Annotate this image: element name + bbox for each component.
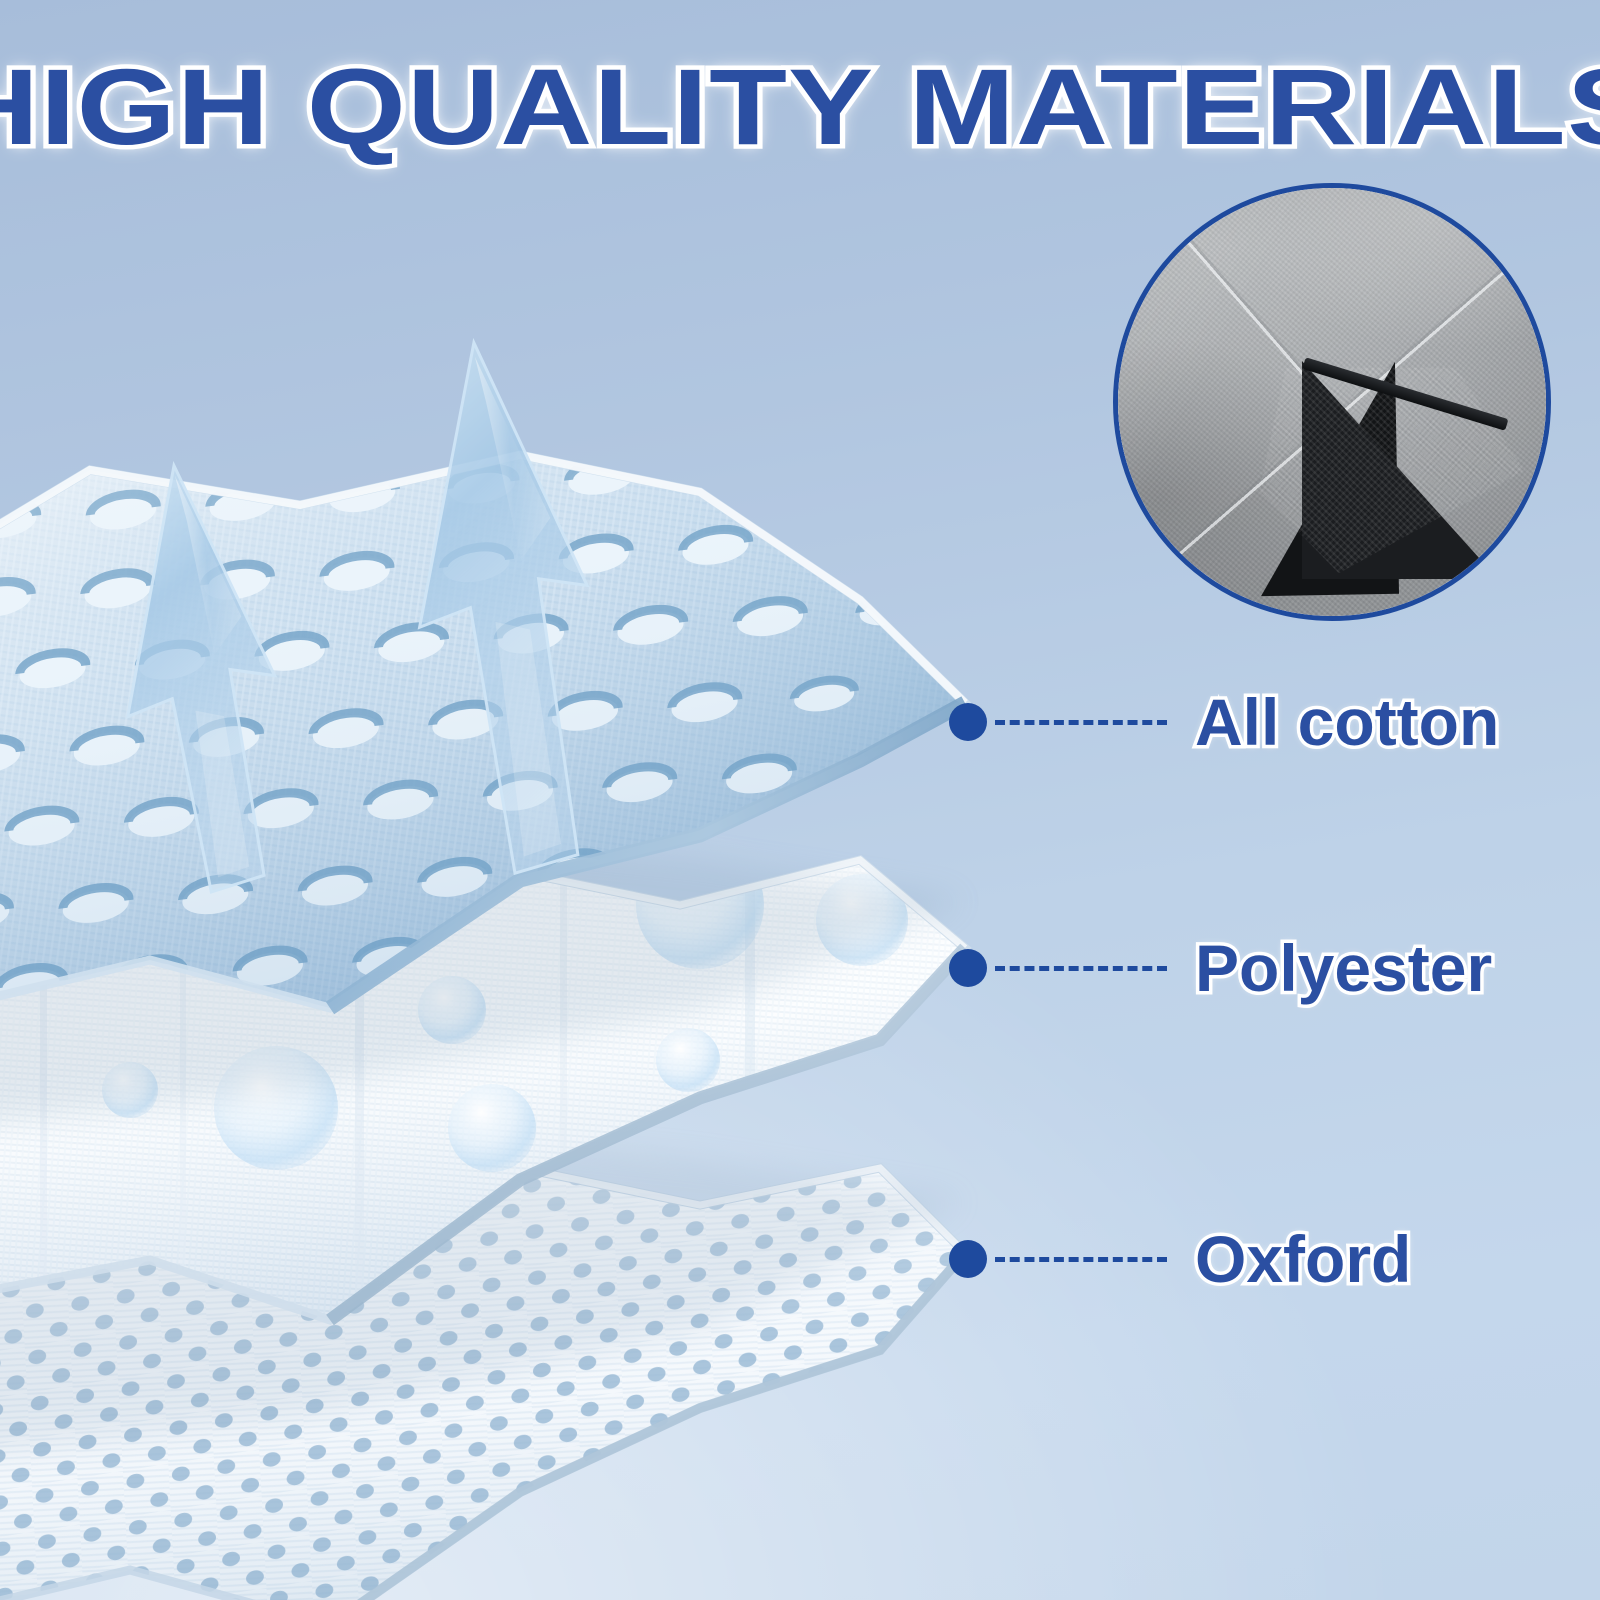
callout-dot-icon — [949, 703, 987, 741]
page-title: HIGH QUALITY MATERIALS — [0, 44, 1600, 169]
inset-image — [1118, 188, 1546, 616]
product-closeup-inset — [1113, 183, 1551, 621]
callout-dot-icon — [949, 1240, 987, 1278]
callout-label-oxford: Oxford — [1195, 1221, 1411, 1297]
callout-polyester: Polyester — [949, 930, 1492, 1006]
callout-label-polyester: Polyester — [1195, 930, 1492, 1006]
callout-all-cotton: All cotton — [949, 684, 1499, 760]
callout-oxford: Oxford — [949, 1221, 1411, 1297]
callout-leader-line — [995, 1257, 1167, 1262]
callout-leader-line — [995, 720, 1167, 725]
callout-dot-icon — [949, 949, 987, 987]
page-title-container: HIGH QUALITY MATERIALS — [0, 44, 1600, 169]
callout-leader-line — [995, 966, 1167, 971]
infographic-canvas: HIGH QUALITY MATERIALS All cotton Polyes… — [0, 0, 1600, 1600]
callout-label-all-cotton: All cotton — [1195, 684, 1499, 760]
